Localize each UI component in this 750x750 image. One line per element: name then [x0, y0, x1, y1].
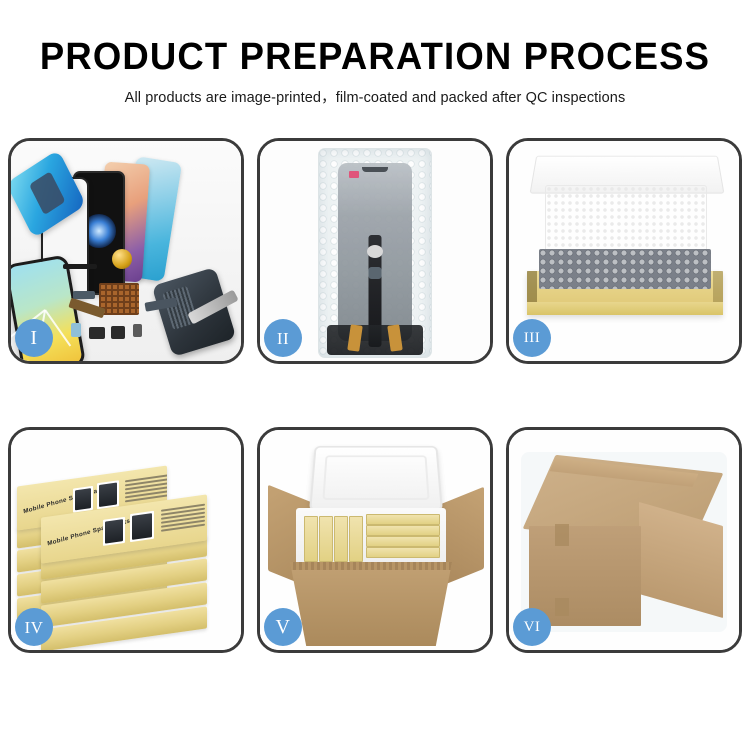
step-numeral: I — [30, 328, 37, 348]
step-numeral: V — [276, 617, 291, 637]
page-subtitle: All products are image-printed，film-coat… — [0, 88, 750, 108]
step-badge-2: II — [264, 319, 302, 357]
small-part-icon — [111, 326, 125, 339]
step-panel-1: I — [8, 138, 244, 364]
step-panel-5: V — [257, 427, 493, 653]
step-badge-1: I — [15, 319, 53, 357]
connector-square-icon — [369, 267, 382, 279]
step-numeral: IV — [25, 619, 44, 636]
bubble-wrap-bag-icon — [318, 148, 432, 358]
carton-seam-icon — [555, 524, 569, 546]
small-part-icon — [71, 323, 81, 337]
steps-grid: I II — [8, 138, 742, 653]
yellow-inner-box-icon — [527, 271, 723, 315]
step-badge-4: IV — [15, 608, 53, 646]
step-badge-6: VI — [513, 608, 551, 646]
page-title: PRODUCT PREPARATION PROCESS — [15, 35, 735, 79]
step-panel-2: II — [257, 138, 493, 364]
step-panel-3: III — [506, 138, 742, 364]
step-panel-4: Mobile Phone Spare Parts Mobile Phone Sp… — [8, 427, 244, 653]
step-numeral: VI — [524, 620, 541, 635]
carton-body-icon — [290, 562, 452, 646]
step-numeral: III — [524, 331, 541, 346]
step-panel-6: VI — [506, 427, 742, 653]
small-part-icon — [89, 327, 105, 339]
small-part-icon — [73, 291, 95, 299]
gold-coil-icon — [112, 249, 132, 269]
product-preparation-infographic: PRODUCT PREPARATION PROCESS All products… — [0, 0, 750, 750]
bubble-wrapped-contents-icon — [539, 249, 711, 289]
carton-front-icon — [529, 526, 641, 626]
header: PRODUCT PREPARATION PROCESS All products… — [0, 0, 750, 108]
carton-seam-icon — [555, 598, 569, 616]
black-strip-icon — [63, 264, 97, 269]
foam-lid-icon — [309, 446, 443, 511]
foam-box-icon — [296, 508, 446, 568]
pink-label-icon — [349, 171, 359, 178]
step-badge-5: V — [264, 608, 302, 646]
screen-base-icon — [327, 325, 423, 355]
step-badge-3: III — [513, 319, 551, 357]
connector-round-icon — [367, 245, 383, 258]
step-numeral: II — [277, 330, 289, 347]
small-part-icon — [133, 324, 142, 337]
